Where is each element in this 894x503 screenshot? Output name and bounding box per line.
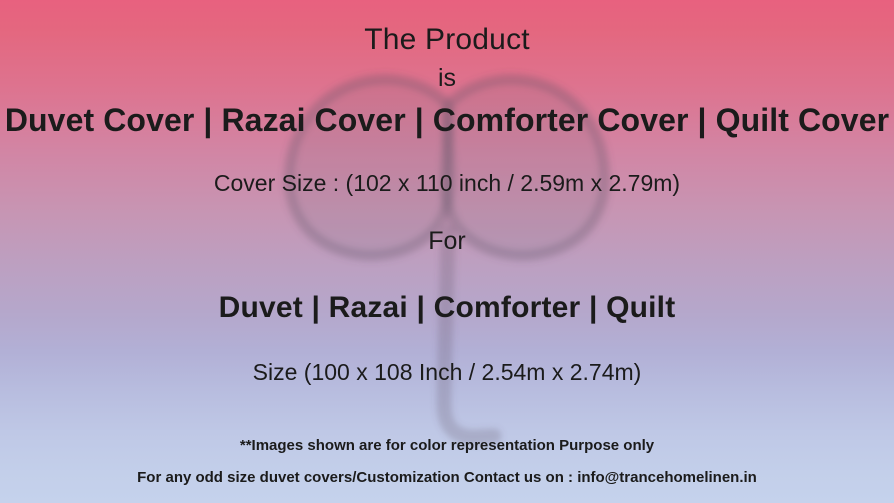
product-info-banner: The Product is Duvet Cover | Razai Cover… (0, 0, 894, 503)
contact-text: For any odd size duvet covers/Customizat… (0, 470, 894, 485)
product-label: The Product (0, 25, 894, 55)
color-disclaimer-text: **Images shown are for color representat… (0, 438, 894, 453)
banner-text-layer: The Product is Duvet Cover | Razai Cover… (0, 0, 894, 503)
cover-size-text: Cover Size : (102 x 110 inch / 2.59m x 2… (0, 172, 894, 195)
for-label: For (0, 229, 894, 254)
cover-products-headline: Duvet Cover | Razai Cover | Comforter Co… (0, 104, 894, 136)
items-headline: Duvet | Razai | Comforter | Quilt (0, 293, 894, 323)
is-label: is (0, 66, 894, 91)
item-size-text: Size (100 x 108 Inch / 2.54m x 2.74m) (0, 361, 894, 384)
